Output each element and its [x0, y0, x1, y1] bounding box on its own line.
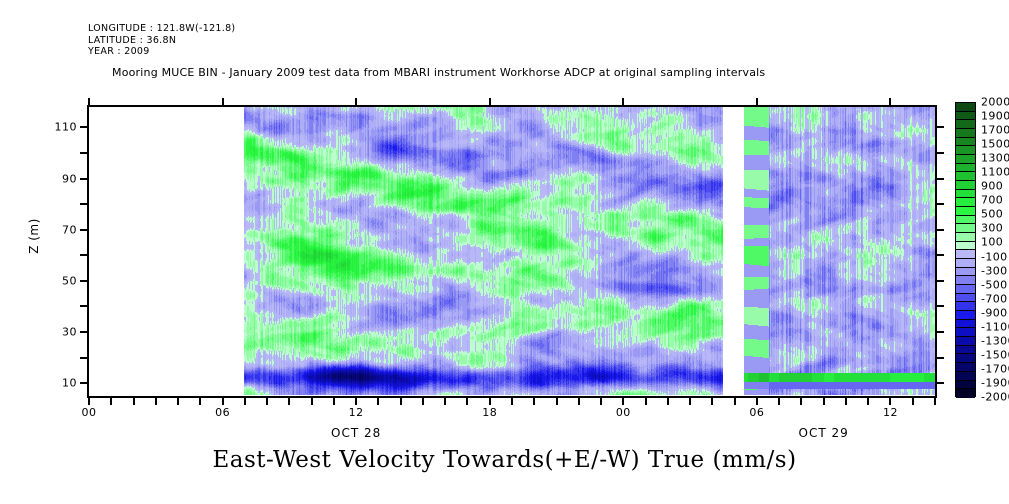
x-axis-label: 06	[749, 406, 764, 419]
x-axis-label: 12	[349, 406, 364, 419]
y-axis-tick	[80, 178, 89, 180]
x-axis-tick	[867, 396, 869, 405]
y-axis-title: Z (m)	[27, 218, 41, 254]
x-axis-tick	[934, 396, 936, 405]
x-axis-tick	[266, 396, 268, 405]
colorbar-segment	[956, 381, 975, 390]
colorbar-label: -2000	[981, 391, 1009, 404]
colorbar-segment	[956, 363, 975, 372]
colorbar-label: 700	[981, 194, 1003, 207]
colorbar-segment	[956, 181, 975, 190]
x-axis-tick	[889, 396, 891, 405]
x-axis-tick-top	[489, 98, 491, 107]
x-axis-tick	[333, 396, 335, 405]
x-axis-tick	[311, 396, 313, 405]
x-axis-tick	[600, 396, 602, 405]
y-axis-tick-right	[935, 229, 944, 231]
x-axis-tick	[155, 396, 157, 405]
colorbar-label: 1500	[981, 138, 1009, 151]
colorbar-segment	[956, 285, 975, 294]
x-axis-tick	[756, 396, 758, 405]
x-axis-tick	[778, 396, 780, 405]
y-axis-tick-right	[935, 331, 944, 333]
colorbar-segment	[956, 198, 975, 207]
x-axis-tick	[622, 396, 624, 405]
colorbar-label: 300	[981, 222, 1003, 235]
y-axis-label: 50	[41, 274, 77, 287]
x-axis-tick	[444, 396, 446, 405]
x-axis-tick	[823, 396, 825, 405]
colorbar-label: -700	[981, 292, 1008, 305]
colorbar-label: 500	[981, 208, 1003, 221]
colorbar-segment	[956, 103, 975, 112]
colorbar-label: 1700	[981, 124, 1009, 137]
y-axis-tick	[80, 229, 89, 231]
x-axis-tick	[133, 396, 135, 405]
x-axis-label: 00	[82, 406, 97, 419]
colorbar-segment	[956, 164, 975, 173]
y-axis-tick	[80, 126, 89, 128]
y-axis-tick-right	[935, 382, 944, 384]
x-axis-day-label: OCT 29	[799, 426, 849, 440]
colorbar-segment	[956, 354, 975, 363]
y-axis-tick-right	[935, 305, 944, 307]
y-axis-label: 10	[41, 377, 77, 390]
x-axis-tick	[578, 396, 580, 405]
heatmap-plot-area: 00061218000612OCT 28OCT 291030507090110	[87, 105, 937, 398]
colorbar-label: -1500	[981, 348, 1009, 361]
x-axis-tick	[88, 396, 90, 405]
colorbar-label: 1100	[981, 166, 1009, 179]
longitude-text: LONGITUDE : 121.8W(-121.8)	[88, 23, 235, 34]
colorbar-segment	[956, 224, 975, 233]
x-axis-tick	[355, 396, 357, 405]
x-axis-tick	[556, 396, 558, 405]
x-axis-tick	[800, 396, 802, 405]
x-axis-tick	[377, 396, 379, 405]
colorbar-label: -1100	[981, 320, 1009, 333]
latitude-text: LATITUDE : 36.8N	[88, 35, 176, 46]
colorbar-segment	[956, 311, 975, 320]
y-axis-tick	[80, 357, 89, 359]
y-axis-tick-right	[935, 152, 944, 154]
x-axis-tick	[244, 396, 246, 405]
y-axis-tick-right	[935, 280, 944, 282]
y-axis-tick	[80, 280, 89, 282]
x-axis-tick	[288, 396, 290, 405]
x-axis-tick	[511, 396, 513, 405]
x-axis-tick-top	[88, 98, 90, 107]
colorbar-segment	[956, 190, 975, 199]
x-axis-tick	[667, 396, 669, 405]
colorbar-segment	[956, 146, 975, 155]
colorbar-segment	[956, 233, 975, 242]
x-axis-day-label: OCT 28	[331, 426, 381, 440]
x-axis-tick	[110, 396, 112, 405]
colorbar-segment	[956, 320, 975, 329]
colorbar-segment	[956, 294, 975, 303]
y-axis-label: 90	[41, 172, 77, 185]
colorbar-segment	[956, 372, 975, 381]
colorbar-label: -500	[981, 278, 1008, 291]
y-axis-tick-right	[935, 126, 944, 128]
y-axis-tick	[80, 152, 89, 154]
y-axis-tick	[80, 382, 89, 384]
y-axis-tick	[80, 254, 89, 256]
colorbar-segment	[956, 120, 975, 129]
colorbar-label: -300	[981, 264, 1008, 277]
x-axis-tick	[489, 396, 491, 405]
y-axis-tick-right	[935, 178, 944, 180]
colorbar-label: 2000	[981, 96, 1009, 109]
plot-title: East-West Velocity Towards(+E/-W) True (…	[0, 447, 1009, 473]
x-axis-tick	[400, 396, 402, 405]
x-axis-tick	[222, 396, 224, 405]
colorbar-segment	[956, 346, 975, 355]
y-axis-tick-right	[935, 254, 944, 256]
x-axis-label: 06	[215, 406, 230, 419]
colorbar-label: 100	[981, 236, 1003, 249]
x-axis-label: 00	[616, 406, 631, 419]
colorbar-segment	[956, 250, 975, 259]
x-axis-tick-top	[622, 98, 624, 107]
x-axis-tick	[422, 396, 424, 405]
x-axis-tick-top	[756, 98, 758, 107]
colorbar-segment	[956, 138, 975, 147]
x-axis-tick	[734, 396, 736, 405]
colorbar-segment	[956, 259, 975, 268]
x-axis-tick	[711, 396, 713, 405]
colorbar-label: -1300	[981, 334, 1009, 347]
colorbar-label: -1700	[981, 362, 1009, 375]
colorbar-segment	[956, 337, 975, 346]
x-axis-tick-top	[355, 98, 357, 107]
colorbar-label: 1300	[981, 152, 1009, 165]
colorbar-label: 1900	[981, 110, 1009, 123]
x-axis-tick	[912, 396, 914, 405]
station-metadata: LONGITUDE : 121.8W(-121.8) LATITUDE : 36…	[88, 23, 235, 58]
y-axis-label: 30	[41, 326, 77, 339]
heatmap-canvas	[89, 107, 935, 396]
colorbar-segment	[956, 112, 975, 121]
colorbar-segment	[956, 276, 975, 285]
colorbar-label: -900	[981, 306, 1008, 319]
y-axis-label: 110	[41, 121, 77, 134]
colorbar-segment	[956, 268, 975, 277]
y-axis-tick	[80, 305, 89, 307]
colorbar-segment	[956, 216, 975, 225]
x-axis-tick	[177, 396, 179, 405]
x-axis-tick	[645, 396, 647, 405]
colorbar-segment	[956, 328, 975, 337]
year-text: YEAR : 2009	[88, 46, 150, 57]
y-axis-label: 70	[41, 223, 77, 236]
x-axis-label: 12	[883, 406, 898, 419]
colorbar-segment	[956, 172, 975, 181]
x-axis-tick	[466, 396, 468, 405]
x-axis-tick	[845, 396, 847, 405]
y-axis-tick	[80, 331, 89, 333]
x-axis-tick	[689, 396, 691, 405]
colorbar-segment	[956, 129, 975, 138]
y-axis-tick	[80, 203, 89, 205]
colorbar-label: -100	[981, 250, 1008, 263]
heatmap-canvas-wrapper	[89, 107, 935, 396]
colorbar-segment	[956, 155, 975, 164]
colorbar	[955, 102, 976, 397]
colorbar-label: -1900	[981, 376, 1009, 389]
chart-subtitle: Mooring MUCE BIN - January 2009 test dat…	[112, 66, 765, 79]
x-axis-label: 18	[482, 406, 497, 419]
colorbar-segment	[956, 302, 975, 311]
y-axis-tick-right	[935, 203, 944, 205]
colorbar-segment	[956, 207, 975, 216]
x-axis-tick-top	[889, 98, 891, 107]
colorbar-segment	[956, 242, 975, 251]
x-axis-tick	[199, 396, 201, 405]
x-axis-tick-top	[222, 98, 224, 107]
y-axis-tick-right	[935, 357, 944, 359]
colorbar-segment	[956, 389, 975, 398]
colorbar-label: 900	[981, 180, 1003, 193]
x-axis-tick	[533, 396, 535, 405]
